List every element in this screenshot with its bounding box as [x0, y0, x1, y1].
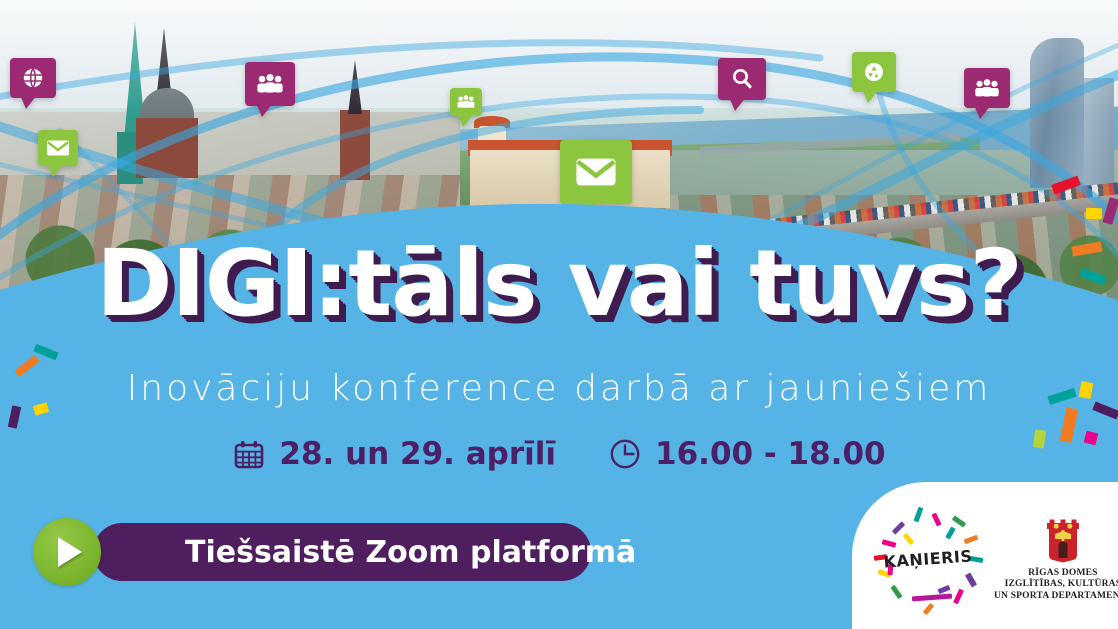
dome-cathedral-body — [136, 118, 198, 178]
cta-pill[interactable]: Tiešsaistē Zoom platformā — [93, 523, 591, 581]
bubble-tail — [256, 103, 273, 117]
bubble-envelope-main — [560, 140, 632, 204]
title-container: DIGI:tāls vai tuvs? — [0, 238, 1118, 350]
envelope-icon — [46, 139, 70, 157]
confetti-dash — [945, 526, 955, 539]
confetti-dash — [903, 532, 915, 544]
bubble-envelope-left — [38, 130, 78, 166]
bubble-search — [718, 58, 766, 100]
bubble-tail — [576, 202, 598, 222]
event-time: 16.00 - 18.00 — [608, 436, 886, 472]
riga-logo-line3: UN SPORTA DEPARTAMENTS — [994, 591, 1118, 603]
confetti-dash — [882, 539, 897, 547]
bubble-tail — [20, 95, 37, 109]
confetti-dash — [890, 584, 902, 598]
office-tower — [1084, 78, 1114, 188]
calendar-icon — [232, 437, 266, 471]
bubble-tail — [47, 163, 64, 177]
play-icon[interactable] — [33, 518, 101, 586]
confetti-dash — [892, 521, 905, 534]
people-icon — [255, 74, 285, 94]
bubble-tail — [457, 113, 474, 127]
confetti-dash — [912, 593, 952, 601]
confetti-dash — [965, 572, 977, 587]
event-date-text: 28. un 29. aprīlī — [279, 436, 556, 472]
church-building — [340, 110, 370, 180]
bubble-people-purple-left — [245, 62, 295, 106]
bubble-recycle — [852, 52, 896, 92]
play-triangle — [58, 537, 82, 567]
bubble-globe — [10, 58, 56, 98]
people-icon — [973, 79, 1001, 98]
people-icon — [456, 95, 476, 109]
confetti-dash — [938, 584, 951, 593]
confetti-dash — [931, 512, 941, 526]
logo-panel: KAŅIERIS RĪGAS DOMES IZGLĪTĪBAS, KULTŪRA… — [852, 482, 1118, 629]
poster-subtitle: Inovāciju konference darbā ar jauniešiem — [0, 368, 1118, 409]
bubble-people-purple-right — [964, 68, 1010, 108]
search-icon — [730, 67, 754, 91]
riga-logo-line2: IZGLĪTĪBAS, KULTŪRAS — [994, 579, 1118, 591]
church-spire — [348, 60, 362, 114]
event-time-text: 16.00 - 18.00 — [655, 436, 886, 472]
bubble-tail — [862, 89, 879, 103]
riga-council-logo[interactable]: RĪGAS DOMES IZGLĪTĪBAS, KULTŪRAS UN SPOR… — [994, 517, 1118, 603]
confetti-dash — [914, 506, 924, 522]
confetti-dash — [953, 588, 964, 604]
cta-label: Tiešsaistē Zoom platformā — [185, 535, 636, 570]
poster-title: DIGI:tāls vai tuvs? — [96, 238, 1022, 330]
bubble-tail — [974, 105, 991, 119]
clock-icon — [608, 437, 642, 471]
recycle-icon — [862, 60, 886, 84]
event-date: 28. un 29. aprīlī — [232, 436, 556, 472]
globe-icon — [21, 66, 45, 90]
conference-poster: DIGI:tāls vai tuvs? Inovāciju konference… — [0, 0, 1118, 629]
riga-coat-of-arms-icon — [1041, 517, 1085, 563]
riga-logo-line1: RĪGAS DOMES — [994, 568, 1118, 580]
confetti-dash — [952, 515, 966, 527]
swedbank-tower — [1030, 38, 1084, 188]
confetti-dash — [923, 602, 935, 614]
bubble-tail — [729, 97, 746, 111]
envelope-icon — [574, 156, 618, 188]
kanieris-logo[interactable]: KAŅIERIS — [872, 503, 984, 615]
bubble-people-green — [450, 88, 482, 116]
dome-cathedral-spire — [157, 28, 171, 92]
event-meta-row: 28. un 29. aprīlī 16.00 - 18.00 — [0, 436, 1118, 472]
confetti-dash — [964, 534, 979, 543]
